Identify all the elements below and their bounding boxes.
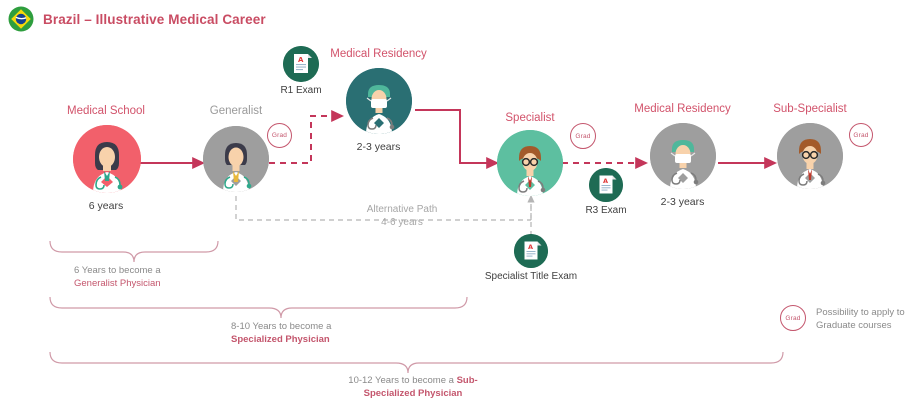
node-label-sub-specialist: Sub-Specialist [773, 103, 847, 115]
grad-badge-generalist: Grad [267, 123, 292, 148]
bracket-sub-specialized-line1: 10-12 Years to become a Sub- [338, 374, 488, 387]
node-sub-medical-residency-2: 2-3 years [661, 196, 705, 208]
node-label-medical-residency-2: Medical Residency [634, 103, 731, 115]
diagram-header: Brazil – Illustrative Medical Career [8, 6, 266, 32]
node-sub-medical-school: 6 years [89, 200, 123, 212]
exam-icon-r3: A [589, 168, 623, 202]
node-sub-medical-residency-1: 2-3 years [357, 141, 401, 153]
bracket-sub-line1-bold: Sub- [457, 375, 478, 386]
legend-grad-badge: Grad [780, 305, 806, 331]
bracket-label-generalist: 6 Years to become a Generalist Physician [74, 264, 194, 290]
exam-label-specialist-title: Specialist Title Exam [485, 271, 577, 282]
bracket-label-specialized: 8-10 Years to become a Specialized Physi… [231, 320, 351, 346]
connector-layer [0, 0, 918, 403]
alternative-path-label: Alternative Path 4-6 years [352, 203, 452, 229]
avatar-medical-residency-1 [346, 68, 412, 134]
avatar-medical-residency-2 [650, 123, 716, 189]
svg-text:A: A [603, 177, 608, 185]
bracket-generalist-line1: 6 Years to become a [74, 264, 194, 277]
bracket-sub-specialized-line2: Specialized Physician [338, 387, 488, 400]
diagram-canvas: Brazil – Illustrative Medical Career [0, 0, 918, 403]
bracket-sub-line1-prefix: 10-12 Years to become a [348, 375, 456, 386]
avatar-generalist [203, 126, 269, 192]
page-title: Brazil – Illustrative Medical Career [43, 12, 266, 27]
bracket-label-sub-specialized: 10-12 Years to become a Sub- Specialized… [338, 374, 488, 400]
legend-line2: Graduate courses [816, 320, 916, 333]
svg-text:A: A [298, 56, 304, 64]
bracket-specialized-line1: 8-10 Years to become a [231, 320, 351, 333]
node-label-specialist: Specialist [505, 112, 554, 124]
legend-text: Possibility to apply to Graduate courses [816, 307, 916, 332]
exam-label-r1: R1 Exam [280, 85, 321, 96]
avatar-specialist [497, 130, 563, 196]
node-label-medical-school: Medical School [67, 105, 145, 117]
exam-icon-specialist-title: A [514, 234, 548, 268]
svg-text:A: A [528, 243, 533, 251]
avatar-medical-school [73, 125, 141, 193]
bracket-specialized-line2: Specialized Physician [231, 333, 351, 346]
alternative-path-line2: 4-6 years [352, 216, 452, 229]
node-label-medical-residency-1: Medical Residency [330, 48, 427, 60]
alternative-path-line1: Alternative Path [352, 203, 452, 216]
grad-badge-specialist: Grad [570, 123, 596, 149]
node-label-generalist: Generalist [210, 105, 262, 117]
exam-label-r3: R3 Exam [585, 205, 626, 216]
grad-badge-sub-specialist: Grad [849, 123, 873, 147]
avatar-sub-specialist [777, 123, 843, 189]
legend-line1: Possibility to apply to [816, 307, 916, 320]
bracket-generalist-line2: Generalist Physician [74, 277, 194, 290]
exam-icon-r1: A [283, 46, 319, 82]
brazil-flag-icon [8, 6, 34, 32]
